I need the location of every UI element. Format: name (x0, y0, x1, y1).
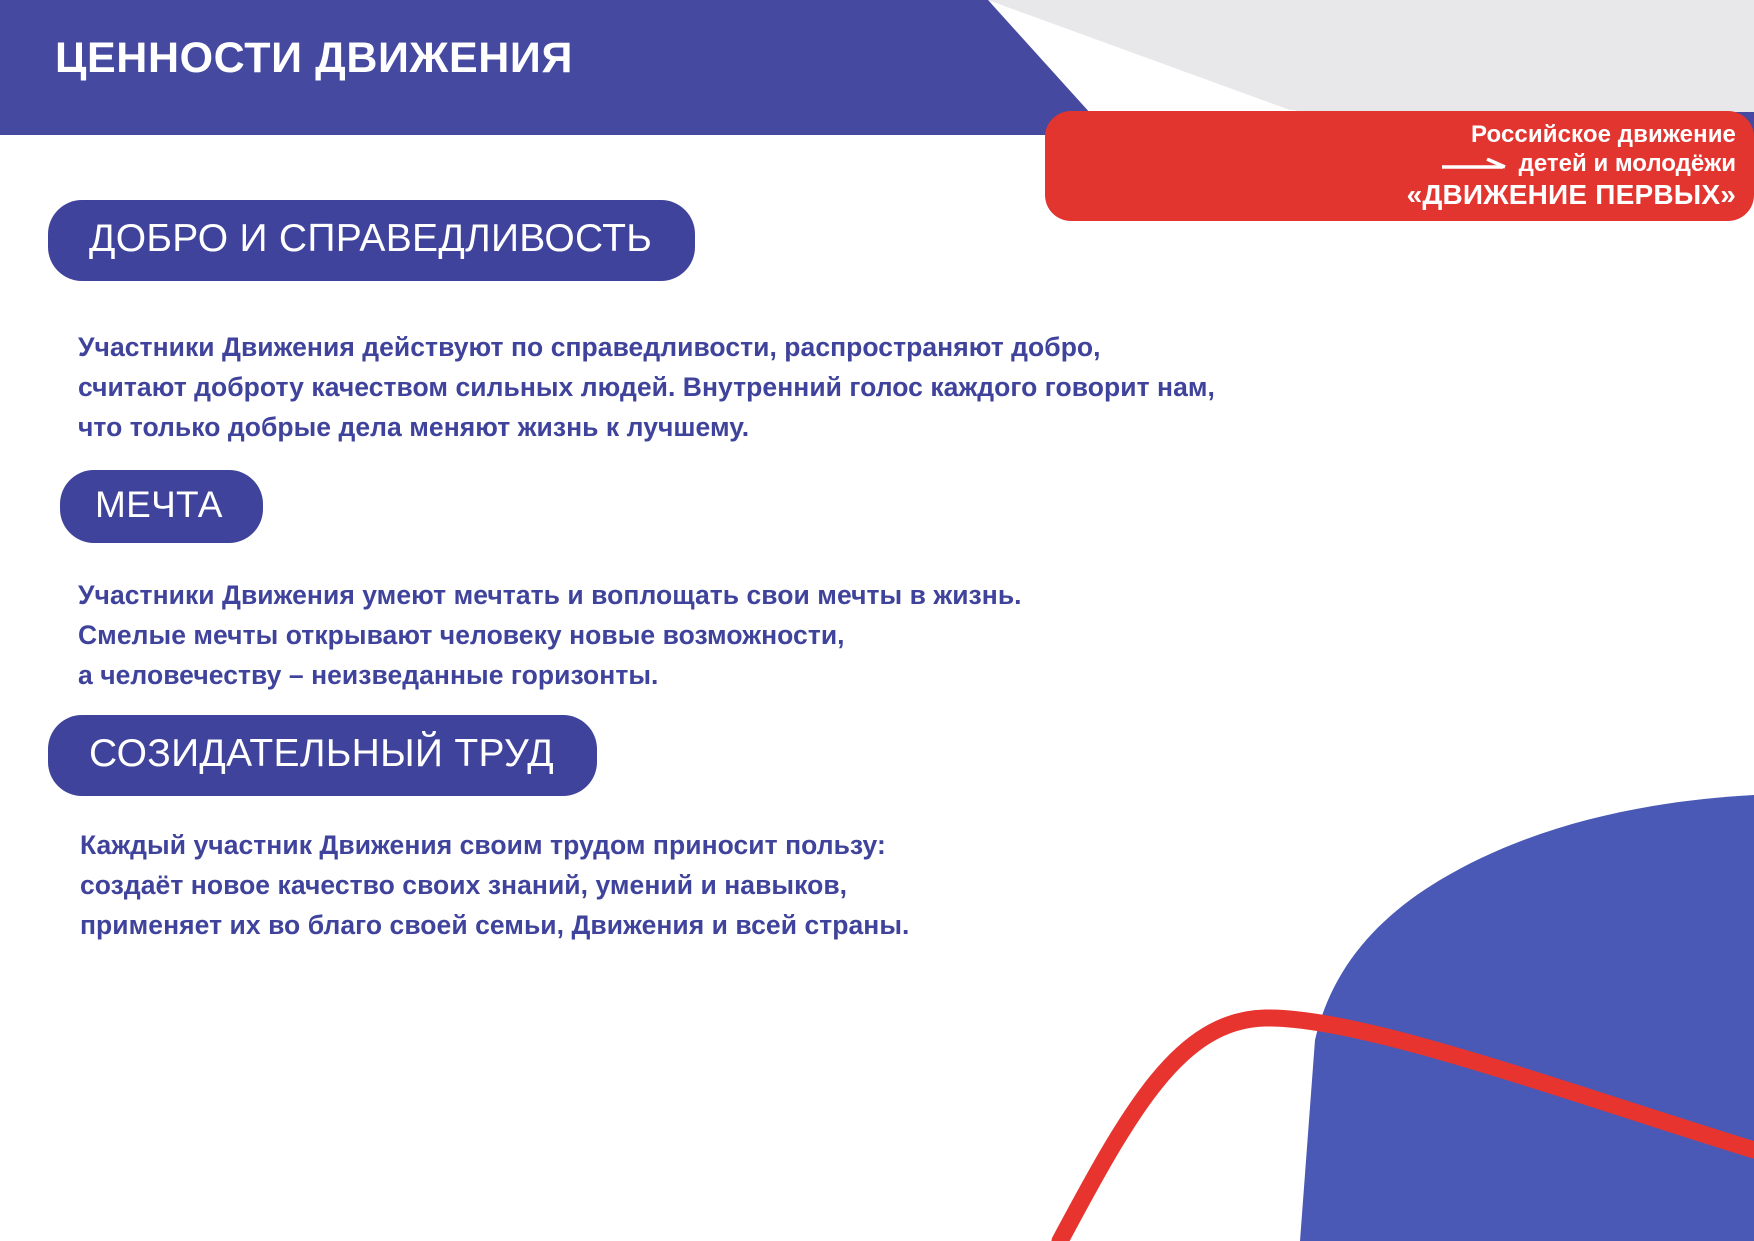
brand-line-2-row: детей и молодёжи (1441, 150, 1736, 178)
paragraph-line: Каждый участник Движения своим трудом пр… (80, 825, 909, 865)
brand-line-3: «ДВИЖЕНИЕ ПЕРВЫХ» (1407, 180, 1736, 211)
red-swoosh-curve (1060, 1018, 1754, 1241)
value-section-dobro: ДОБРО И СПРАВЕДЛИВОСТЬ (0, 200, 695, 281)
brand-line-2: детей и молодёжи (1519, 150, 1736, 178)
value-section-trud: СОЗИДАТЕЛЬНЫЙ ТРУД (0, 715, 597, 796)
value-heading-mechta: МЕЧТА (60, 470, 263, 543)
paragraph-line: применяет их во благо своей семьи, Движе… (80, 905, 909, 945)
page-title: ЦЕННОСТИ ДВИЖЕНИЯ (55, 34, 573, 83)
value-text-trud: Каждый участник Движения своим трудом пр… (0, 825, 909, 945)
brand-badge: Российское движение детей и молодёжи «ДВ… (1045, 111, 1754, 221)
value-text-dobro: Участники Движения действуют по справедл… (0, 327, 1215, 447)
corner-wedge-shape (1300, 795, 1754, 1241)
paragraph-line: Смелые мечты открывают человеку новые во… (78, 615, 1022, 655)
paragraph-line: считают доброту качеством сильных людей.… (78, 367, 1215, 407)
value-heading-trud: СОЗИДАТЕЛЬНЫЙ ТРУД (48, 715, 597, 796)
value-section-mechta: МЕЧТА (0, 470, 263, 543)
value-text-mechta: Участники Движения умеют мечтать и вопло… (0, 575, 1022, 695)
paragraph-line: а человечеству – неизведанные горизонты. (78, 655, 1022, 695)
paragraph-line: что только добрые дела меняют жизнь к лу… (78, 407, 1215, 447)
value-heading-dobro: ДОБРО И СПРАВЕДЛИВОСТЬ (48, 200, 695, 281)
brand-line-1: Российское движение (1471, 121, 1736, 149)
arrow-right-icon (1441, 158, 1507, 172)
paragraph-line: создаёт новое качество своих знаний, уме… (80, 865, 909, 905)
paragraph-line: Участники Движения умеют мечтать и вопло… (78, 575, 1022, 615)
paragraph-line: Участники Движения действуют по справедл… (78, 327, 1215, 367)
